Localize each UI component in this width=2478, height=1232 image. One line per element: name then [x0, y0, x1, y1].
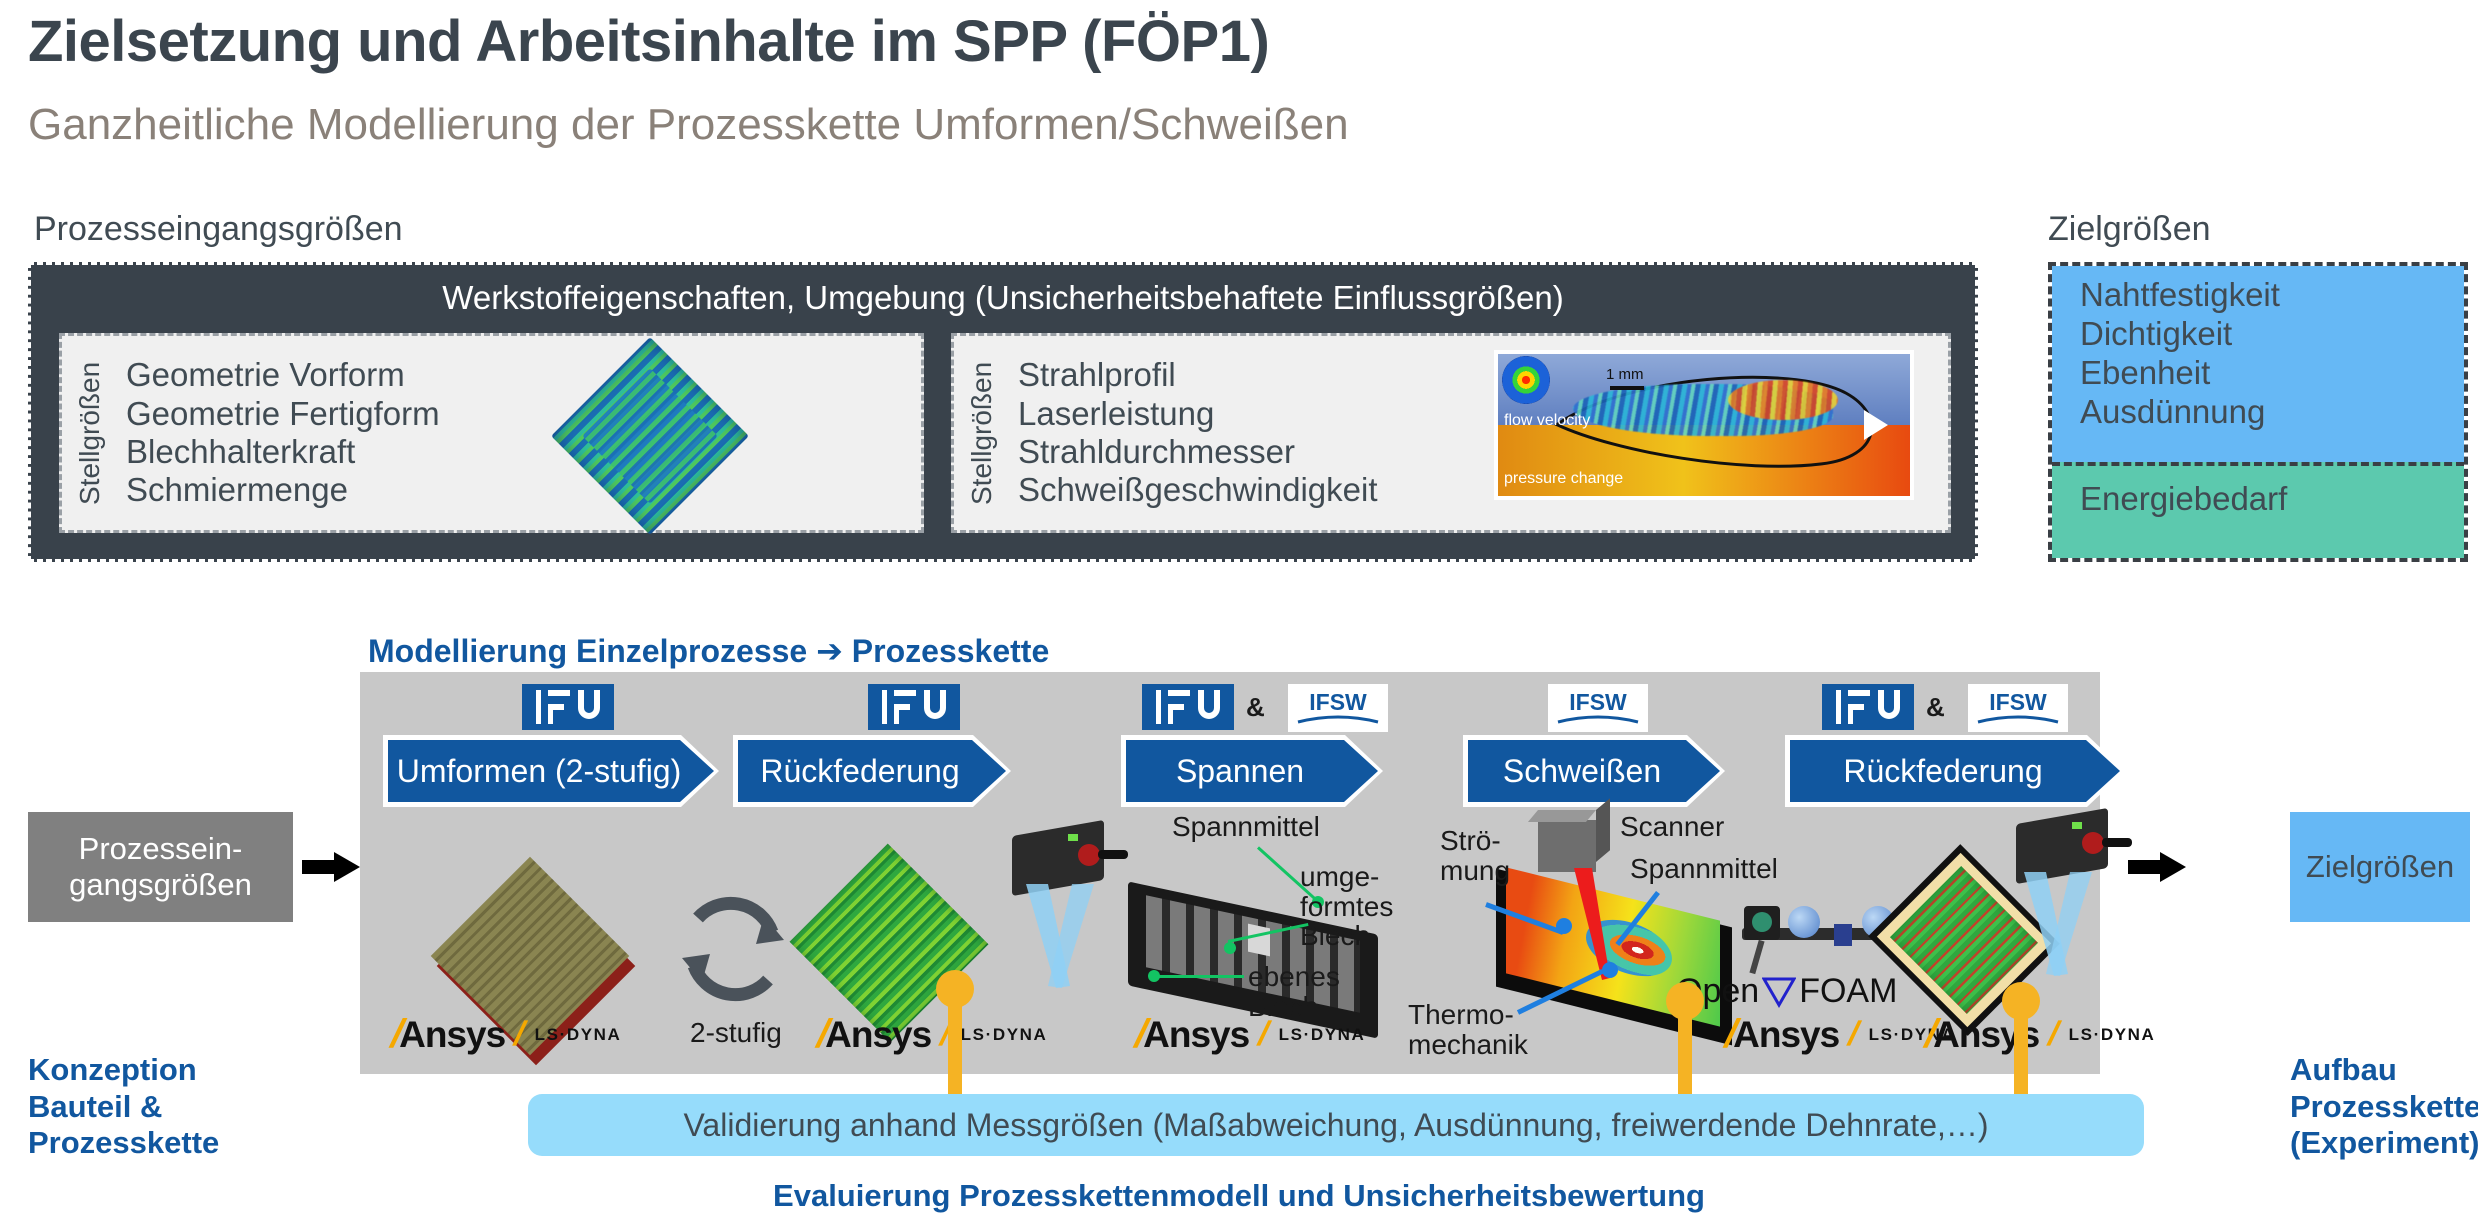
openfoam-triangle-icon	[1762, 976, 1796, 1008]
ifsw-logo: IFSW	[1288, 684, 1388, 732]
ifu-logo	[1142, 684, 1234, 730]
targets-energy-group: Energiebedarf	[2052, 462, 2464, 558]
list-item: Ausdünnung	[2080, 393, 2464, 432]
list-item: Schmiermenge	[126, 471, 921, 509]
ansys-wordmark: Ansys	[1733, 1014, 1839, 1056]
list-item: Energiebedarf	[2080, 466, 2464, 518]
stroemung-label: Strö-mung	[1440, 826, 1510, 885]
validation-pin-head	[936, 970, 974, 1008]
scale-label: 1 mm	[1606, 366, 1644, 383]
process-inputs-box: Prozessein-gangsgrößen	[28, 812, 293, 922]
stage-arrow-rueckfederung-1[interactable]: Rückfederung	[738, 740, 1006, 802]
targets-output-label: Zielgrößen	[2306, 849, 2454, 885]
ansys-wordmark: Ansys	[1143, 1014, 1249, 1056]
validation-pin-head	[2002, 982, 2040, 1020]
pressure-change-label: pressure change	[1504, 470, 1623, 488]
spannmittel-label: Spannmittel	[1172, 812, 1320, 843]
list-item: Dichtigkeit	[2080, 315, 2464, 354]
targets-quality-group: Nahtfestigkeit Dichtigkeit Ebenheit Ausd…	[2052, 266, 2464, 462]
stage-label: Schweißen	[1468, 740, 1720, 802]
stage-label: Spannen	[1126, 740, 1378, 802]
flow-direction-arrow-icon	[1864, 410, 1888, 440]
openfoam-suffix: FOAM	[1799, 972, 1897, 1011]
stroemung-leader-dot	[1556, 918, 1572, 934]
validation-bar: Validierung anhand Messgrößen (Maßabweic…	[528, 1094, 2144, 1156]
scanner-beam-icon	[2006, 868, 2116, 984]
stellgroessen-box-forming: Stellgrößen Geometrie Vorform Geometrie …	[59, 333, 924, 533]
ampersand-separator: &	[1246, 692, 1265, 723]
list-item: Geometrie Vorform	[126, 356, 921, 394]
lsdyna-wordmark: LS·DYNA	[535, 1025, 622, 1045]
ifsw-logo: IFSW	[1548, 684, 1648, 732]
umgeformtes-blech-label: umge-formtesBlech	[1300, 862, 1393, 951]
validation-pin-head	[1666, 982, 1704, 1020]
ansys-lsdyna-logo: / Ansys / LS·DYNA	[818, 1012, 1047, 1057]
ebenes-blech-leader-line	[1152, 975, 1244, 978]
stage-arrow-umformen[interactable]: Umformen (2-stufig)	[388, 740, 714, 802]
scanner-label: Scanner	[1620, 812, 1724, 843]
chain-heading: Modellierung Einzelprozesse ➔ Prozessket…	[368, 632, 1049, 670]
lsdyna-wordmark: LS·DYNA	[1279, 1025, 1366, 1045]
openfoam-logo: Open FOAM	[1676, 972, 1897, 1011]
forming-simulation-thumbnail	[562, 348, 738, 524]
list-item: Geometrie Fertigform	[126, 395, 921, 433]
ifsw-logo: IFSW	[1968, 684, 2068, 732]
ansys-wordmark: Ansys	[825, 1014, 931, 1056]
thermomechanik-leader-dot	[1602, 962, 1618, 978]
ansys-lsdyna-logo: / Ansys / LS·DYNA	[392, 1012, 621, 1057]
keyhole-cfd-thumbnail: 1 mm flow velocity pressure change	[1494, 350, 1914, 500]
svg-text:IFSW: IFSW	[1569, 689, 1627, 715]
ebenes-blech-leader-dot	[1148, 970, 1160, 982]
beam-profile-icon	[1502, 356, 1550, 404]
ansys-separator: /	[1844, 1015, 1865, 1054]
stage-arrow-spannen[interactable]: Spannen	[1126, 740, 1378, 802]
material-properties-banner: Werkstoffeigenschaften, Umgebung (Unsich…	[31, 279, 1975, 317]
output-flow-arrow-icon	[2128, 852, 2186, 882]
process-inputs-box-label: Prozessein-gangsgrößen	[69, 831, 252, 902]
list-item: Blechhalterkraft	[126, 433, 921, 471]
label-process-inputs: Prozesseingangsgrößen	[34, 210, 403, 249]
page-subtitle: Ganzheitliche Modellierung der Prozesske…	[28, 100, 1349, 150]
thermomechanik-label: Thermo-mechanik	[1408, 1000, 1528, 1059]
spannmittel-label-2: Spannmittel	[1630, 854, 1778, 885]
stage-label: Umformen (2-stufig)	[388, 740, 714, 802]
ifu-logo	[868, 684, 960, 730]
list-item: Nahtfestigkeit	[2080, 266, 2464, 315]
stage-label: Rückfederung	[1790, 740, 2120, 802]
stellgroessen-box-welding: Stellgrößen Strahlprofil Laserleistung S…	[951, 333, 1951, 533]
evaluation-caption: Evaluierung Prozesskettenmodell und Unsi…	[0, 1178, 2478, 1214]
stage-label: Rückfederung	[738, 740, 1006, 802]
label-targets: Zielgrößen	[2048, 210, 2211, 249]
preform-plate-artwork	[432, 852, 704, 1032]
ansys-separator: /	[2044, 1015, 2065, 1054]
targets-output-box: Zielgrößen	[2290, 812, 2470, 922]
lsdyna-wordmark: LS·DYNA	[2069, 1025, 2156, 1045]
ansys-wordmark: Ansys	[399, 1014, 505, 1056]
scanner-beam-icon	[1008, 880, 1118, 996]
stellgroessen-list-1: Geometrie Vorform Geometrie Fertigform B…	[118, 336, 921, 530]
list-item: Ebenheit	[2080, 354, 2464, 393]
svg-text:IFSW: IFSW	[1309, 689, 1367, 715]
ifu-logo	[522, 684, 614, 730]
stellgroessen-vertical-label-1: Stellgrößen	[62, 336, 118, 530]
flow-velocity-label: flow velocity	[1504, 412, 1590, 430]
two-stage-label: 2-stufig	[690, 1018, 782, 1049]
svg-text:IFSW: IFSW	[1989, 689, 2047, 715]
lsdyna-wordmark: LS·DYNA	[961, 1025, 1048, 1045]
right-caption: AufbauProzesskette(Experiment)	[2290, 1052, 2478, 1162]
ansys-lsdyna-logo: / Ansys / LS·DYNA	[1136, 1012, 1365, 1057]
input-flow-arrow-icon	[302, 852, 360, 882]
ampersand-separator: &	[1926, 692, 1945, 723]
process-inputs-panel: Werkstoffeigenschaften, Umgebung (Unsich…	[28, 262, 1978, 562]
ansys-lsdyna-logo: / Ansys / LS·DYNA	[1926, 1012, 2155, 1057]
left-caption: KonzeptionBauteil &Prozesskette	[28, 1052, 219, 1162]
stage-arrow-schweissen[interactable]: Schweißen	[1468, 740, 1720, 802]
stage-arrow-rueckfederung-2[interactable]: Rückfederung	[1790, 740, 2120, 802]
targets-box: Nahtfestigkeit Dichtigkeit Ebenheit Ausd…	[2048, 262, 2468, 562]
ifu-logo	[1822, 684, 1914, 730]
page-title: Zielsetzung und Arbeitsinhalte im SPP (F…	[28, 8, 1269, 75]
ansys-separator: /	[1254, 1015, 1275, 1054]
umgeformtes-blech-leader-dot	[1224, 942, 1236, 954]
ansys-separator: /	[510, 1015, 531, 1054]
stellgroessen-vertical-label-2: Stellgrößen	[954, 336, 1010, 530]
validation-bar-label: Validierung anhand Messgrößen (Maßabweic…	[683, 1107, 1988, 1144]
